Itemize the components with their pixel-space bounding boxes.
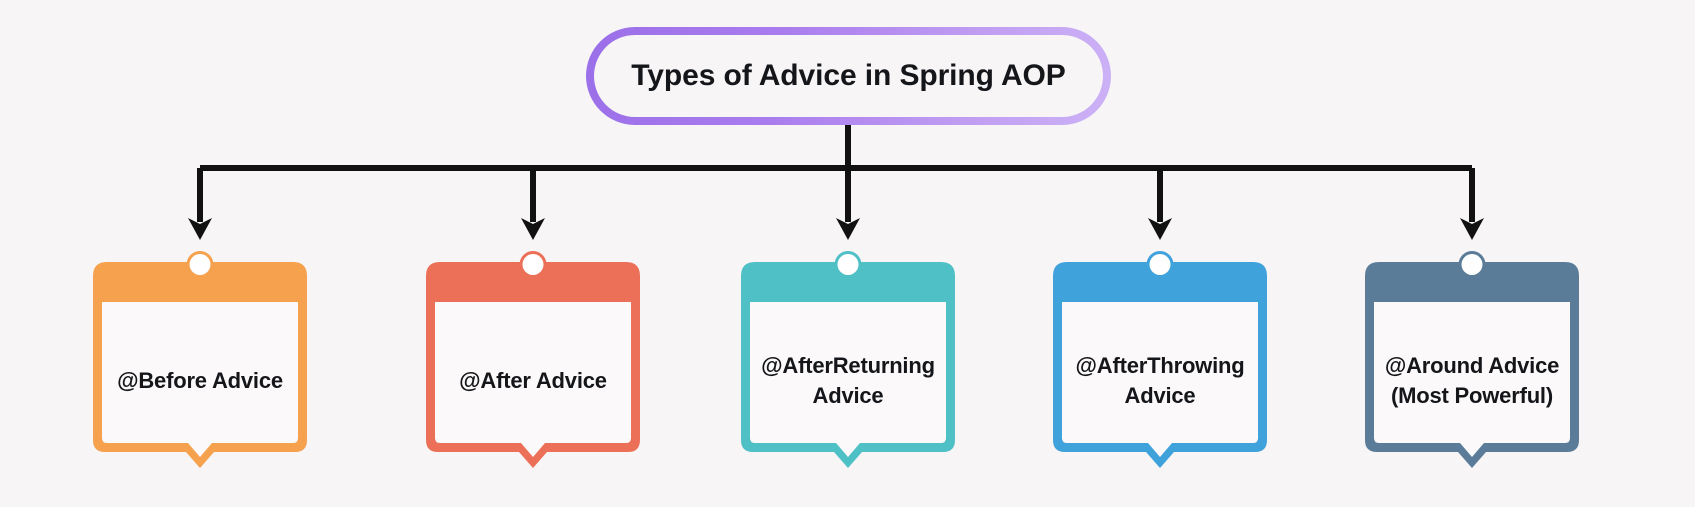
arrowhead-1 xyxy=(188,218,212,240)
advice-card-after-returning-advice[interactable]: @AfterReturningAdvice xyxy=(741,262,955,468)
card-body: @AfterReturningAdvice xyxy=(750,302,946,459)
advice-card-after-throwing-advice[interactable]: @AfterThrowingAdvice xyxy=(1053,262,1267,468)
diagram-title-badge: Types of Advice in Spring AOP xyxy=(586,27,1111,125)
card-hole-icon xyxy=(523,254,544,275)
card-body: @Before Advice xyxy=(102,302,298,459)
card-hole-icon xyxy=(838,254,859,275)
card-body: @Around Advice(Most Powerful) xyxy=(1374,302,1570,459)
card-body: @AfterThrowingAdvice xyxy=(1062,302,1258,459)
page-title: Types of Advice in Spring AOP xyxy=(631,59,1065,93)
card-label: @AfterThrowingAdvice xyxy=(1076,351,1245,409)
diagram-canvas: Types of Advice in Spring AOP @Before Ad… xyxy=(0,0,1695,507)
card-hole-icon xyxy=(1150,254,1171,275)
card-hole-icon xyxy=(1462,254,1483,275)
advice-card-before-advice[interactable]: @Before Advice xyxy=(93,262,307,468)
card-label: @AfterReturningAdvice xyxy=(761,351,935,409)
advice-card-after-advice[interactable]: @After Advice xyxy=(426,262,640,468)
card-hole-icon xyxy=(190,254,211,275)
card-label: @Around Advice(Most Powerful) xyxy=(1385,351,1559,409)
arrowhead-4 xyxy=(1148,218,1172,240)
advice-card-around-advice[interactable]: @Around Advice(Most Powerful) xyxy=(1365,262,1579,468)
card-label: @After Advice xyxy=(459,366,607,395)
arrowhead-5 xyxy=(1460,218,1484,240)
arrowhead-3 xyxy=(836,218,860,240)
card-body: @After Advice xyxy=(435,302,631,459)
card-label: @Before Advice xyxy=(117,366,283,395)
arrowheads xyxy=(188,218,1484,240)
arrowhead-2 xyxy=(521,218,545,240)
advice-card-row: @Before Advice@After Advice@AfterReturni… xyxy=(0,262,1695,477)
title-badge-inner: Types of Advice in Spring AOP xyxy=(594,35,1103,117)
